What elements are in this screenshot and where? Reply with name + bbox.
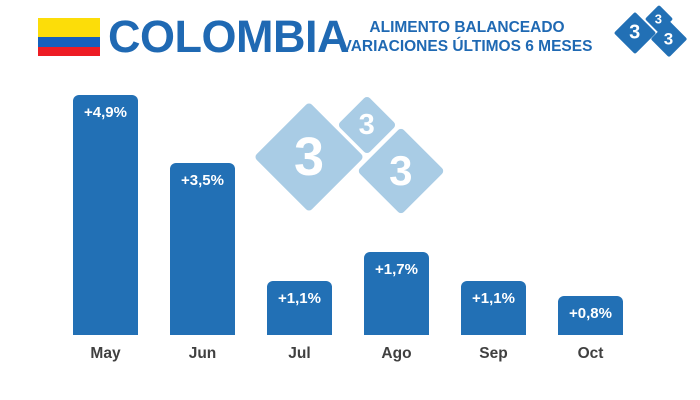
bar[interactable]: +3,5% — [170, 163, 235, 335]
infographic-page: COLOMBIA ALIMENTO BALANCEADO VARIACIONES… — [0, 0, 700, 400]
x-axis-tick-label: May — [65, 345, 146, 363]
bar-chart: +4,9%May+3,5%Jun+1,1%Jul+1,7%Ago+1,1%Sep… — [0, 0, 700, 400]
bar-value-label: +1,7% — [364, 261, 429, 278]
bar[interactable]: +4,9% — [73, 95, 138, 335]
x-axis-tick-label: Jul — [259, 345, 340, 363]
x-axis-tick-label: Sep — [453, 345, 534, 363]
x-axis-tick-label: Jun — [162, 345, 243, 363]
bar-value-label: +1,1% — [267, 290, 332, 307]
bar[interactable]: +1,1% — [461, 281, 526, 335]
x-axis-tick-label: Ago — [356, 345, 437, 363]
bar-value-label: +4,9% — [73, 104, 138, 121]
bar-value-label: +0,8% — [558, 305, 623, 322]
bar-value-label: +3,5% — [170, 172, 235, 189]
bar[interactable]: +1,1% — [267, 281, 332, 335]
bar[interactable]: +0,8% — [558, 296, 623, 335]
bar[interactable]: +1,7% — [364, 252, 429, 335]
x-axis-tick-label: Oct — [550, 345, 631, 363]
bar-value-label: +1,1% — [461, 290, 526, 307]
